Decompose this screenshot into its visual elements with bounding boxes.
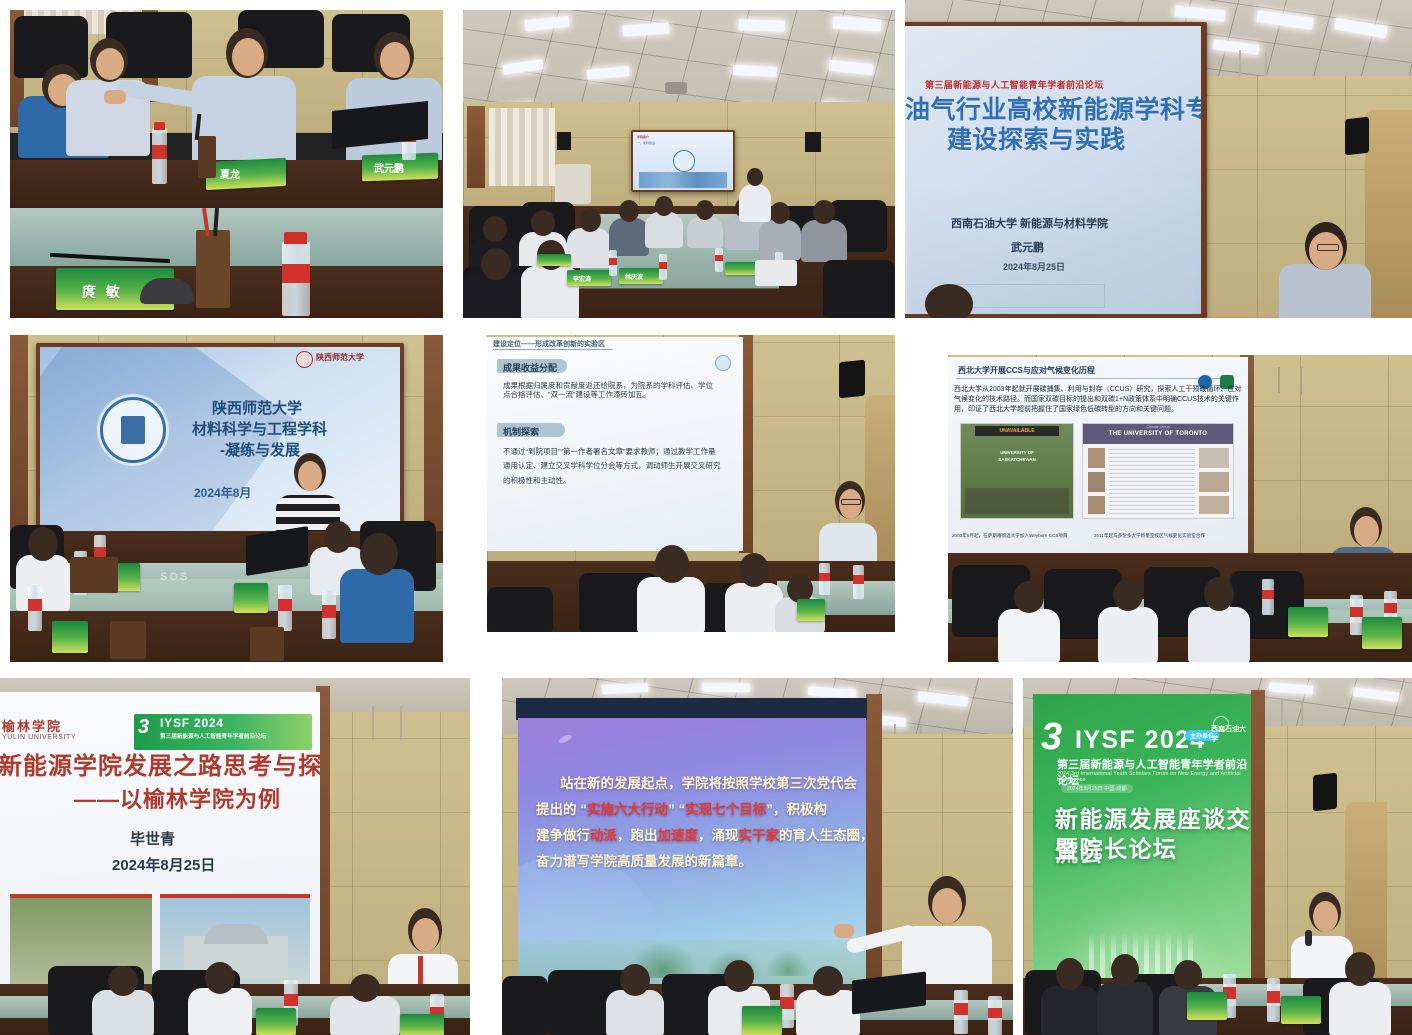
photo1-caption: 2003年5月起，在萨斯喀彻温大学加入Weyburn CCS项目 <box>952 533 1068 539</box>
photo-collage: 夏龙 武元鹏 庹 敏 <box>0 0 1412 1035</box>
presenter <box>739 168 771 220</box>
projector <box>665 82 687 94</box>
photo2-caption: 2011年起与多伦多大学新墨室校区气候变化实验室合作 <box>1094 533 1205 539</box>
slide-title-line2: 材料科学与工程学科 <box>192 422 327 439</box>
glasses-icon <box>841 499 861 505</box>
nameplate-label-dumin: 庹 敏 <box>82 282 123 302</box>
slide-body-2: 不通过“到院项目”“第一作者署名文章”要求教师；通过教学工作量通用认定、建立交叉… <box>503 445 721 488</box>
slide-photo-saskatchewan: UNAVAILABLE UNIVERSITY OF SASKATCHEWAN <box>960 423 1074 519</box>
panel-snnu-presentation: 陕西师范大学 陕西师范大学 材料科学与工程学科 -凝练与发展 2024年8月 <box>10 335 443 662</box>
vision-line-1: 站在新的发展起点，学院将按照学校第三次党代会 <box>560 772 857 792</box>
nameplate-label: 林庆波 <box>625 272 643 281</box>
vision-line-3a: 建争做行 <box>536 828 590 843</box>
speaker <box>1277 222 1373 318</box>
vision-highlight-5: 实干家 <box>739 828 780 843</box>
slide-presenter: 武元鹏 <box>1011 242 1044 254</box>
badge-number: 3 <box>1041 720 1062 754</box>
panel-development-vision-slide: 站在新的发展起点，学院将按照学校第三次党代会 提出的 “实施六大行动” “实现七… <box>502 678 1013 1035</box>
vision-line-4: 奋力谱写学院高质量发展的新篇章。 <box>536 850 752 870</box>
badge-title: IYSF 2024 <box>160 716 224 730</box>
panel-mechanism-slide-talk: 建设定位——形成改革创新的实验区 成果收益分配 成果根据归属度和贡献度返还给院系… <box>487 335 895 632</box>
nameplate-label-xialong: 夏龙 <box>220 166 240 181</box>
slide-date: 2024年8月25日 <box>1003 262 1065 272</box>
slide-title-line2: 暨院长论坛 <box>1055 830 1178 864</box>
vision-highlight-2: 实现七个目标 <box>685 802 766 817</box>
panel-nwu-ccs-slide: 西北大学开展CCS与应对气候变化历程 西北大学从2003年起就开展碳捕集、利用与… <box>948 355 1412 662</box>
vision-highlight-4: 加速度 <box>658 828 699 843</box>
vision-line-3d: 的育人生态圈， <box>779 828 866 843</box>
panel-swpu-keynote: 第三届新能源与人工智能青年学者前沿论坛 油气行业高校新能源学科专业 建设探索与实… <box>905 0 1412 318</box>
slide-presenter: 毕世青 <box>130 832 175 849</box>
slide-section-2: 机制探索 <box>503 425 539 438</box>
vision-line-2a: 提出的 “ <box>536 802 587 817</box>
vision-line-2b: ” “ <box>668 802 685 817</box>
slide-title-line1: 陕西师范大学 <box>212 401 302 418</box>
vision-highlight-1: 实施六大行动 <box>587 802 668 817</box>
university-seal <box>100 397 166 463</box>
slide-title-line2: 建设探索与实践 <box>947 126 1126 154</box>
badge-number: 3 <box>138 716 149 739</box>
pen-holder <box>196 230 230 308</box>
badge-sub: 第三届新能源与人工智能青年学者前沿论坛 <box>160 732 266 740</box>
slide-photo-toronto: Climate Lab at THE UNIVERSITY OF TORONTO <box>1082 423 1234 519</box>
air-conditioner <box>555 164 591 204</box>
panel-conference-room-wide: 学院简介 一、学科建设 <box>463 10 895 318</box>
vision-line-3b: ，跑出 <box>617 828 658 843</box>
nameplate-label-wuyuanpeng: 武元鹏 <box>374 160 404 175</box>
vision-line-2c: ”，积极构 <box>766 802 827 817</box>
pen-holder <box>198 136 216 178</box>
slide-banner: 第三届新能源与人工智能青年学者前沿论坛 <box>925 80 1104 90</box>
slide-title-line2: ——以榆林学院为例 <box>74 788 281 813</box>
slide-header: 建设定位——形成改革创新的实验区 <box>493 339 605 349</box>
tissue-box <box>755 260 797 286</box>
glasses-icon <box>1317 244 1339 251</box>
microphone-base <box>140 278 194 304</box>
panel-forum-opening-slide: 3 IYSF 2024 主办单位 西南石油大学 第三届新能源与人工智能青年学者前… <box>1023 678 1412 1035</box>
slide-affiliation: 西南石油大学 新能源与材料学院 <box>951 218 1108 230</box>
panel-roundtable-close-up: 夏龙 武元鹏 庹 敏 <box>10 10 443 318</box>
vision-line-3c: ，涌现 <box>698 828 739 843</box>
slide-title-line1: 新能源学院发展之路思考与探索 <box>0 754 320 781</box>
slide-title-line1: 油气行业高校新能源学科专业 <box>905 96 1201 124</box>
heading-en: 2024 3rd International Youth Scholars Fo… <box>1057 771 1251 783</box>
speaker-icon <box>805 132 821 152</box>
panel-yulin-university-slide: 榆林学院 YULIN UNIVERSITY 3 IYSF 2024 第三届新能源… <box>0 678 470 1035</box>
forum-badge: 3 IYSF 2024 第三届新能源与人工智能青年学者前沿论坛 <box>134 714 312 750</box>
nameplate-label: 李宏涛 <box>573 274 591 283</box>
photo2-title: THE UNIVERSITY OF TORONTO <box>1083 431 1233 437</box>
slide-header: 西北大学开展CCS与应对气候变化历程 <box>958 365 1095 376</box>
slide-body: 西北大学从2003年起就开展碳捕集、利用与封存（CCUS）研究，探索人工干预碳循… <box>954 385 1242 415</box>
slide-logo-icon <box>715 355 731 371</box>
slide-date: 2024年8月25日 <box>112 858 215 875</box>
vision-highlight-3: 动派 <box>590 828 617 843</box>
date-bar: 2024年8月25日 中国·成都 <box>1061 784 1133 793</box>
speaker-icon <box>557 132 571 150</box>
nameplate <box>206 158 286 190</box>
slide-date: 2024年8月 <box>194 487 251 500</box>
slide-section-1: 成果收益分配 <box>503 361 557 374</box>
slide-body-1: 成果根据归属度和贡献度返还给院系，为院系的学科评估、学位点合格评估、“双一流”建… <box>503 381 719 400</box>
photo2-subtitle: Climate Lab at <box>1083 425 1233 429</box>
slide-photo-overlay: UNIVERSITY OF SASKATCHEWAN <box>983 450 1051 463</box>
microphone-icon <box>1305 930 1312 946</box>
university-logo-icon <box>1213 716 1229 732</box>
slide-logo-cn: 榆林学院 <box>2 716 62 735</box>
slide-logo-en: YULIN UNIVERSITY <box>2 734 76 741</box>
slide-logo-text: 陕西师范大学 <box>316 352 364 363</box>
